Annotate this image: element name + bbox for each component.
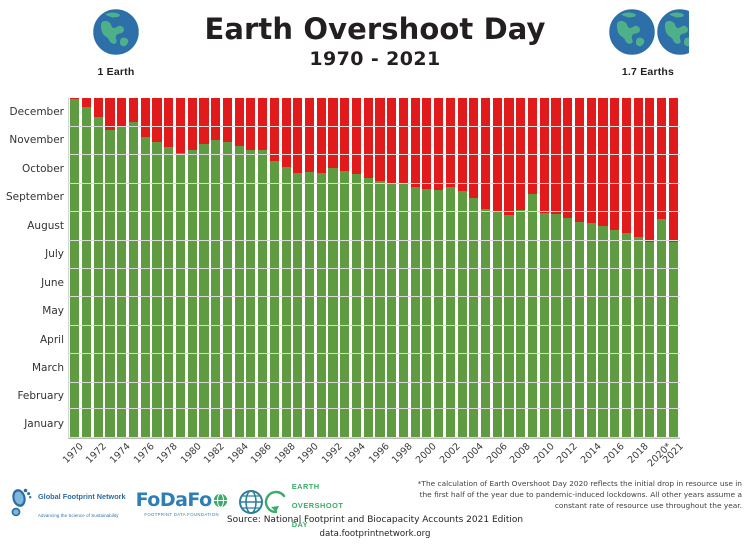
- bar-1991: [317, 98, 326, 438]
- x-axis-label: 1988: [273, 441, 298, 466]
- bar-segment-biocapacity: [434, 190, 443, 438]
- bar-segment-biocapacity: [446, 187, 455, 439]
- bar-segment-biocapacity: [117, 127, 126, 438]
- x-axis-label: 1986: [249, 441, 274, 466]
- bar-segment-overshoot: [622, 98, 631, 233]
- footnote: *The calculation of Earth Overshoot Day …: [412, 478, 742, 511]
- fodafo-wordmark: FoDaFo: [136, 491, 228, 510]
- bar-segment-biocapacity: [399, 184, 408, 438]
- bar-2015: [598, 98, 607, 438]
- bar-1974: [117, 98, 126, 438]
- bar-segment-overshoot: [282, 98, 291, 167]
- y-axis-labels: JanuaryFebruaryMarchAprilMayJuneJulyAugu…: [0, 98, 68, 439]
- bar-segment-overshoot: [446, 98, 455, 186]
- bar-segment-biocapacity: [282, 167, 291, 438]
- source-line-2: data.footprintnetwork.org: [0, 528, 750, 541]
- bar-segment-biocapacity: [551, 214, 560, 438]
- bar-segment-overshoot: [516, 98, 525, 210]
- bar-segment-overshoot: [563, 98, 572, 218]
- infographic-page: 1 Earth Earth Overshoot Day 1970 - 2021: [0, 0, 750, 544]
- bar-2012: [563, 98, 572, 438]
- bar-segment-biocapacity: [657, 219, 666, 438]
- y-axis-label: June: [41, 277, 64, 289]
- bar-segment-biocapacity: [669, 242, 678, 438]
- bar-1975: [129, 98, 138, 438]
- bar-segment-biocapacity: [235, 146, 244, 438]
- bar-segment-biocapacity: [516, 210, 525, 438]
- eod-line-1: EARTH: [292, 482, 320, 491]
- bar-segment-overshoot: [645, 98, 654, 242]
- x-axis-label: 2006: [484, 441, 509, 466]
- bar-segment-biocapacity: [211, 140, 220, 438]
- bar-segment-biocapacity: [587, 223, 596, 438]
- bar-segment-overshoot: [375, 98, 384, 181]
- bar-1985: [246, 98, 255, 438]
- bar-segment-overshoot: [669, 98, 678, 242]
- bar-segment-overshoot: [340, 98, 349, 171]
- bar-segment-biocapacity: [188, 150, 197, 438]
- y-axis-label: November: [9, 134, 64, 146]
- bar-segment-overshoot: [328, 98, 337, 168]
- bar-segment-overshoot: [634, 98, 643, 237]
- x-axis-label: 1996: [367, 441, 392, 466]
- page-title: Earth Overshoot Day: [175, 14, 575, 44]
- fodafo-name: FoDaFo: [136, 491, 212, 510]
- right-earth-row: [594, 8, 702, 64]
- x-axis-label: 1970: [61, 441, 86, 466]
- bar-1981: [199, 98, 208, 438]
- bar-2010: [540, 98, 549, 438]
- bar-1987: [270, 98, 279, 438]
- bar-segment-biocapacity: [493, 211, 502, 438]
- bar-segment-biocapacity: [164, 147, 173, 438]
- eod-line-2: OVERSHOOT: [292, 501, 344, 510]
- x-axis-label: 2014: [579, 441, 604, 466]
- bar-1999: [411, 98, 420, 438]
- bar-2016: [610, 98, 619, 438]
- bar-segment-biocapacity: [352, 174, 361, 438]
- bar-segment-biocapacity: [422, 189, 431, 438]
- y-axis-label: September: [6, 191, 64, 203]
- bar-segment-biocapacity: [458, 191, 467, 438]
- x-axis-label: 1982: [202, 441, 227, 466]
- bar-segment-biocapacity: [375, 181, 384, 438]
- bar-segment-biocapacity: [504, 215, 513, 438]
- bar-segment-biocapacity: [258, 150, 267, 438]
- bar-segment-overshoot: [399, 98, 408, 184]
- x-axis-label: 2004: [461, 441, 486, 466]
- bar-2013: [575, 98, 584, 438]
- bar-segment-overshoot: [598, 98, 607, 226]
- bar-segment-overshoot: [469, 98, 478, 198]
- bar-segment-overshoot: [270, 98, 279, 161]
- bar-1998: [399, 98, 408, 438]
- x-axis-label: 2002: [437, 441, 462, 466]
- bar-segment-biocapacity: [364, 178, 373, 438]
- bar-segment-overshoot: [223, 98, 232, 142]
- bar-2008: [516, 98, 525, 438]
- y-axis-label: January: [24, 418, 64, 430]
- bar-segment-overshoot: [129, 98, 138, 122]
- earth-icon-partial: [656, 8, 689, 56]
- bar-2003: [458, 98, 467, 438]
- bar-segment-biocapacity: [598, 226, 607, 438]
- x-axis-label: 1976: [131, 441, 156, 466]
- right-earth-caption: 1.7 Earths: [594, 66, 702, 78]
- x-axis-label: 1978: [155, 441, 180, 466]
- bar-segment-biocapacity: [94, 117, 103, 438]
- bar-1984: [235, 98, 244, 438]
- bar-segment-biocapacity: [328, 168, 337, 438]
- bar-segment-overshoot: [152, 98, 161, 142]
- bar-segment-biocapacity: [563, 218, 572, 438]
- bar-segment-overshoot: [575, 98, 584, 222]
- bar-2005: [481, 98, 490, 438]
- bar-1977: [152, 98, 161, 438]
- bar-segment-biocapacity: [610, 230, 619, 438]
- bar-segment-biocapacity: [317, 173, 326, 438]
- bar-1972: [94, 98, 103, 438]
- bar-segment-biocapacity: [634, 237, 643, 438]
- bar-1994: [352, 98, 361, 438]
- source-line-1: Source: National Footprint and Biocapaci…: [0, 514, 750, 528]
- bar-segment-overshoot: [458, 98, 467, 191]
- x-axis-label: 1992: [320, 441, 345, 466]
- bar-segment-biocapacity: [340, 171, 349, 438]
- bar-1983: [223, 98, 232, 438]
- bar-2011: [551, 98, 560, 438]
- left-earth-caption: 1 Earth: [62, 66, 170, 78]
- bar-segment-biocapacity: [82, 107, 91, 438]
- bar-segment-overshoot: [610, 98, 619, 230]
- bar-segment-overshoot: [493, 98, 502, 211]
- bar-segment-overshoot: [528, 98, 537, 194]
- bar-2004: [469, 98, 478, 438]
- bar-segment-biocapacity: [293, 173, 302, 438]
- bar-segment-overshoot: [246, 98, 255, 150]
- earth-icon: [92, 8, 140, 56]
- bar-segment-overshoot: [422, 98, 431, 189]
- x-axis-label: 2008: [508, 441, 533, 466]
- bar-1996: [375, 98, 384, 438]
- bar-segment-overshoot: [504, 98, 513, 215]
- bar-1992: [328, 98, 337, 438]
- y-axis-label: August: [27, 220, 64, 232]
- x-axis-label: 1994: [343, 441, 368, 466]
- bar-segment-overshoot: [176, 98, 185, 153]
- bar-segment-overshoot: [258, 98, 267, 150]
- bar-segment-biocapacity: [105, 130, 114, 438]
- bar-1978: [164, 98, 173, 438]
- bar-2009: [528, 98, 537, 438]
- page-subtitle: 1970 - 2021: [175, 48, 575, 70]
- right-earth-group: 1.7 Earths: [594, 8, 702, 78]
- bar-segment-overshoot: [364, 98, 373, 178]
- bar-segment-overshoot: [235, 98, 244, 146]
- bar-segment-overshoot: [352, 98, 361, 174]
- bar-2017: [622, 98, 631, 438]
- bar-segment-biocapacity: [481, 209, 490, 438]
- bar-1989: [293, 98, 302, 438]
- plot-bars: [68, 98, 680, 439]
- bar-1993: [340, 98, 349, 438]
- y-axis-label: March: [32, 362, 64, 374]
- y-axis-label: December: [10, 106, 64, 118]
- bar-segment-overshoot: [82, 98, 91, 107]
- bar-segment-overshoot: [434, 98, 443, 190]
- bar-segment-biocapacity: [152, 142, 161, 438]
- bar-1980: [188, 98, 197, 438]
- chart-area: JanuaryFebruaryMarchAprilMayJuneJulyAugu…: [0, 98, 750, 446]
- bar-segment-overshoot: [387, 98, 396, 184]
- y-axis-label: May: [42, 305, 64, 317]
- left-earth-group: 1 Earth: [62, 8, 170, 78]
- bar-segment-overshoot: [305, 98, 314, 172]
- bar-2019: [645, 98, 654, 438]
- bar-segment-overshoot: [481, 98, 490, 209]
- x-axis-label: 1974: [108, 441, 133, 466]
- bar-segment-biocapacity: [540, 213, 549, 438]
- x-axis-label: 2012: [555, 441, 580, 466]
- bar-1990: [305, 98, 314, 438]
- bar-1995: [364, 98, 373, 438]
- bar-segment-overshoot: [94, 98, 103, 117]
- bar-segment-overshoot: [164, 98, 173, 147]
- bar-1979: [176, 98, 185, 438]
- bar-segment-biocapacity: [575, 222, 584, 438]
- bar-segment-biocapacity: [411, 187, 420, 439]
- x-axis-label: 1980: [178, 441, 203, 466]
- bar-1982: [211, 98, 220, 438]
- bar-segment-biocapacity: [645, 242, 654, 438]
- y-axis-label: February: [17, 390, 64, 402]
- bar-2000: [422, 98, 431, 438]
- left-earth-row: [62, 8, 170, 64]
- bar-2006: [493, 98, 502, 438]
- bar-segment-overshoot: [105, 98, 114, 130]
- bar-2002: [446, 98, 455, 438]
- x-axis-label: 2016: [602, 441, 627, 466]
- bar-segment-biocapacity: [622, 233, 631, 438]
- x-axis-label: 2000: [414, 441, 439, 466]
- bar-1988: [282, 98, 291, 438]
- bar-segment-overshoot: [117, 98, 126, 127]
- x-axis-label: 1990: [296, 441, 321, 466]
- bar-2020: [657, 98, 666, 438]
- bar-2007: [504, 98, 513, 438]
- bar-1986: [258, 98, 267, 438]
- bar-1971: [82, 98, 91, 438]
- bar-segment-biocapacity: [270, 161, 279, 438]
- bar-segment-biocapacity: [129, 122, 138, 438]
- bar-segment-biocapacity: [305, 172, 314, 438]
- bar-2001: [434, 98, 443, 438]
- bar-segment-overshoot: [141, 98, 150, 137]
- bar-segment-biocapacity: [528, 194, 537, 438]
- y-axis-label: July: [45, 248, 64, 260]
- bar-segment-overshoot: [540, 98, 549, 213]
- bar-segment-biocapacity: [141, 137, 150, 438]
- bar-segment-biocapacity: [70, 99, 79, 438]
- bar-segment-overshoot: [211, 98, 220, 140]
- x-axis-label: 1984: [226, 441, 251, 466]
- bar-1997: [387, 98, 396, 438]
- footer: Global Footprint Network Advancing the S…: [0, 470, 750, 544]
- bar-segment-biocapacity: [223, 142, 232, 438]
- bar-segment-overshoot: [657, 98, 666, 219]
- x-axis-label: 2010: [532, 441, 557, 466]
- title-block: Earth Overshoot Day 1970 - 2021: [175, 14, 575, 70]
- bar-segment-biocapacity: [387, 184, 396, 438]
- bar-1973: [105, 98, 114, 438]
- source-credit: Source: National Footprint and Biocapaci…: [0, 514, 750, 540]
- bar-segment-overshoot: [551, 98, 560, 214]
- bar-segment-overshoot: [317, 98, 326, 173]
- y-axis-label: October: [22, 163, 64, 175]
- bar-1970: [70, 98, 79, 438]
- globe-icon: [213, 493, 228, 508]
- bar-segment-overshoot: [293, 98, 302, 173]
- x-axis-label: 1998: [390, 441, 415, 466]
- earth-icon: [608, 8, 656, 56]
- bar-segment-overshoot: [587, 98, 596, 223]
- bar-2021: [669, 98, 678, 438]
- bar-2014: [587, 98, 596, 438]
- bar-segment-overshoot: [411, 98, 420, 186]
- y-axis-label: April: [40, 334, 64, 346]
- gfn-name: Global Footprint Network: [38, 492, 126, 501]
- bar-segment-biocapacity: [176, 153, 185, 438]
- bar-2018: [634, 98, 643, 438]
- x-axis-label: 1972: [84, 441, 109, 466]
- bar-segment-overshoot: [188, 98, 197, 150]
- header: 1 Earth Earth Overshoot Day 1970 - 2021: [0, 0, 750, 96]
- bar-segment-biocapacity: [246, 150, 255, 438]
- bar-1976: [141, 98, 150, 438]
- bar-segment-overshoot: [199, 98, 208, 144]
- bar-segment-biocapacity: [469, 198, 478, 438]
- bar-segment-biocapacity: [199, 144, 208, 438]
